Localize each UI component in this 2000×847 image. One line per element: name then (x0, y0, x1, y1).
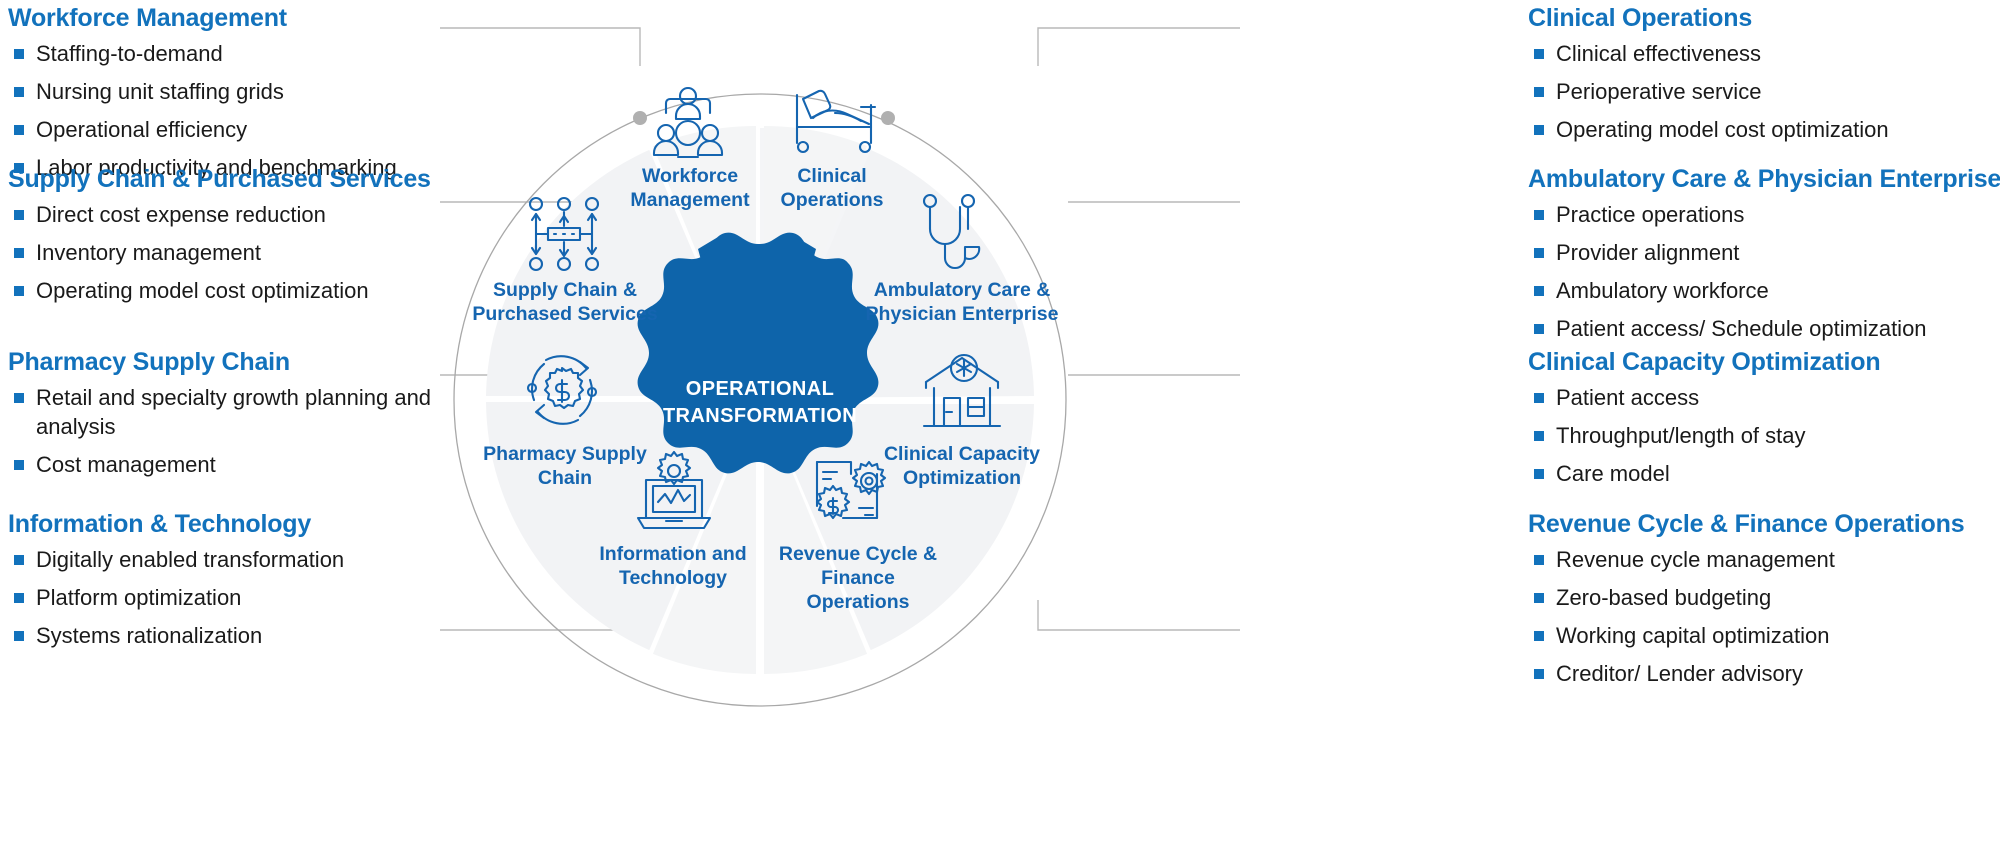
list-item: Cost management (8, 450, 438, 479)
bullet-icon (1534, 555, 1544, 565)
text-block-supply-chain-purchased-services: Supply Chain & Purchased Services Direct… (8, 165, 428, 314)
segment-label-line2: Operations (781, 189, 884, 211)
bullet-icon (14, 393, 24, 403)
list-item-label: Ambulatory workforce (1556, 278, 1769, 303)
list-item: Platform optimization (8, 583, 428, 612)
block-list: Retail and specialty growth planning and… (8, 383, 438, 479)
block-list: Digitally enabled transformation Platfor… (8, 545, 428, 650)
list-item: Care model (1528, 459, 1998, 488)
bullet-icon (14, 248, 24, 258)
list-item-label: Systems rationalization (36, 623, 262, 648)
list-item: Operating model cost optimization (1528, 115, 1998, 144)
bullet-icon (14, 286, 24, 296)
list-item-label: Clinical effectiveness (1556, 41, 1761, 66)
list-item-label: Patient access/ Schedule optimization (1556, 316, 1927, 341)
hub-line1: OPERATIONAL (686, 378, 834, 400)
segment-label-line1: Ambulatory Care & (874, 279, 1051, 301)
gear-body (638, 233, 879, 474)
segment-label-line2: Finance (821, 567, 895, 589)
list-item: Throughput/length of stay (1528, 421, 1998, 450)
bullet-icon (14, 87, 24, 97)
list-item-label: Patient access (1556, 385, 1699, 410)
text-block-pharmacy-supply-chain: Pharmacy Supply Chain Retail and special… (8, 348, 438, 488)
list-item-label: Operating model cost optimization (36, 278, 369, 303)
hub-line2: TRANSFORMATION (663, 405, 857, 427)
list-item: Perioperative service (1528, 77, 1998, 106)
list-item: Patient access/ Schedule optimization (1528, 314, 1998, 343)
list-item: Practice operations (1528, 200, 1998, 229)
list-item-label: Cost management (36, 452, 216, 477)
segment-label-line1: Workforce (642, 165, 738, 187)
text-block-clinical-operations: Clinical Operations Clinical effectivene… (1528, 4, 1998, 153)
block-list: Clinical effectiveness Perioperative ser… (1528, 39, 1998, 144)
block-list: Direct cost expense reduction Inventory … (8, 200, 428, 305)
list-item: Inventory management (8, 238, 428, 267)
list-item-label: Platform optimization (36, 585, 241, 610)
list-item-label: Staffing-to-demand (36, 41, 223, 66)
bullet-icon (14, 210, 24, 220)
operational-transformation-wheel: OPERATIONAL TRANSFORMATION Workforce Man… (440, 0, 1240, 847)
bullet-icon (1534, 669, 1544, 679)
list-item-label: Direct cost expense reduction (36, 202, 326, 227)
segment-label-line3: Operations (807, 591, 910, 613)
block-title: Pharmacy Supply Chain (8, 348, 438, 377)
segment-label-line2: Optimization (903, 467, 1021, 489)
list-item-label: Throughput/length of stay (1556, 423, 1806, 448)
list-item: Revenue cycle management (1528, 545, 1998, 574)
list-item-label: Nursing unit staffing grids (36, 79, 284, 104)
list-item: Provider alignment (1528, 238, 1998, 267)
list-item: Operating model cost optimization (8, 276, 428, 305)
list-item-label: Creditor/ Lender advisory (1556, 661, 1803, 686)
segment-label-line2: Chain (538, 467, 592, 489)
list-item-label: Provider alignment (1556, 240, 1739, 265)
text-block-ambulatory-care-physician-enterprise: Ambulatory Care & Physician Enterprise P… (1528, 165, 1998, 352)
segment-label-line2: Management (630, 189, 750, 211)
list-item-label: Retail and specialty growth planning and… (36, 385, 431, 439)
block-list: Practice operations Provider alignment A… (1528, 200, 1998, 343)
block-title: Workforce Management (8, 4, 428, 33)
list-item-label: Operating model cost optimization (1556, 117, 1889, 142)
segment-label-line1: Clinical (797, 165, 866, 187)
text-block-clinical-capacity-optimization: Clinical Capacity Optimization Patient a… (1528, 348, 1998, 497)
list-item: Working capital optimization (1528, 621, 1998, 650)
bullet-icon (1534, 248, 1544, 258)
list-item-label: Zero-based budgeting (1556, 585, 1771, 610)
bullet-icon (1534, 631, 1544, 641)
text-block-information-technology: Information & Technology Digitally enabl… (8, 510, 428, 659)
bullet-icon (1534, 210, 1544, 220)
bullet-icon (1534, 593, 1544, 603)
bullet-icon (14, 631, 24, 641)
list-item-label: Digitally enabled transformation (36, 547, 344, 572)
bullet-icon (1534, 469, 1544, 479)
bullet-icon (1534, 431, 1544, 441)
segment-label-line1: Clinical Capacity (884, 443, 1040, 465)
bullet-icon (14, 555, 24, 565)
text-block-workforce-management: Workforce Management Staffing-to-demand … (8, 4, 428, 191)
list-item: Creditor/ Lender advisory (1528, 659, 1998, 688)
segment-label-line1: Supply Chain & (493, 279, 637, 301)
segment-label-line2: Purchased Services (472, 303, 658, 325)
list-item-label: Revenue cycle management (1556, 547, 1835, 572)
segment-label-line2: Physician Enterprise (866, 303, 1059, 325)
block-title: Supply Chain & Purchased Services (8, 165, 428, 194)
block-title: Revenue Cycle & Finance Operations (1528, 510, 1998, 539)
bullet-icon (14, 125, 24, 135)
block-list: Patient access Throughput/length of stay… (1528, 383, 1998, 488)
segment-label-line1: Information and (599, 543, 746, 565)
bullet-icon (14, 593, 24, 603)
list-item-label: Care model (1556, 461, 1670, 486)
bullet-icon (1534, 87, 1544, 97)
list-item: Ambulatory workforce (1528, 276, 1998, 305)
block-list: Revenue cycle management Zero-based budg… (1528, 545, 1998, 688)
segment-label-line1: Revenue Cycle & (779, 543, 937, 565)
list-item-label: Inventory management (36, 240, 261, 265)
list-item-label: Perioperative service (1556, 79, 1761, 104)
text-block-revenue-cycle-finance-operations: Revenue Cycle & Finance Operations Reven… (1528, 510, 1998, 697)
bullet-icon (1534, 125, 1544, 135)
list-item: Clinical effectiveness (1528, 39, 1998, 68)
list-item: Direct cost expense reduction (8, 200, 428, 229)
bullet-icon (1534, 49, 1544, 59)
list-item-label: Operational efficiency (36, 117, 247, 142)
bullet-icon (1534, 286, 1544, 296)
bullet-icon (14, 460, 24, 470)
list-item: Zero-based budgeting (1528, 583, 1998, 612)
list-item: Staffing-to-demand (8, 39, 428, 68)
list-item: Operational efficiency (8, 115, 428, 144)
bullet-icon (1534, 393, 1544, 403)
list-item-label: Practice operations (1556, 202, 1744, 227)
block-title: Ambulatory Care & Physician Enterprise (1528, 165, 1998, 194)
bullet-icon (1534, 324, 1544, 334)
segment-label-line1: Pharmacy Supply (483, 443, 647, 465)
list-item: Nursing unit staffing grids (8, 77, 428, 106)
block-list: Staffing-to-demand Nursing unit staffing… (8, 39, 428, 182)
list-item: Patient access (1528, 383, 1998, 412)
list-item: Systems rationalization (8, 621, 428, 650)
block-title: Clinical Capacity Optimization (1528, 348, 1998, 377)
list-item: Digitally enabled transformation (8, 545, 428, 574)
block-title: Clinical Operations (1528, 4, 1998, 33)
segment-label-line2: Technology (619, 567, 727, 589)
list-item: Retail and specialty growth planning and… (8, 383, 438, 441)
bullet-icon (14, 49, 24, 59)
list-item-label: Working capital optimization (1556, 623, 1830, 648)
block-title: Information & Technology (8, 510, 428, 539)
hub-gear[interactable]: OPERATIONAL TRANSFORMATION (638, 233, 879, 474)
